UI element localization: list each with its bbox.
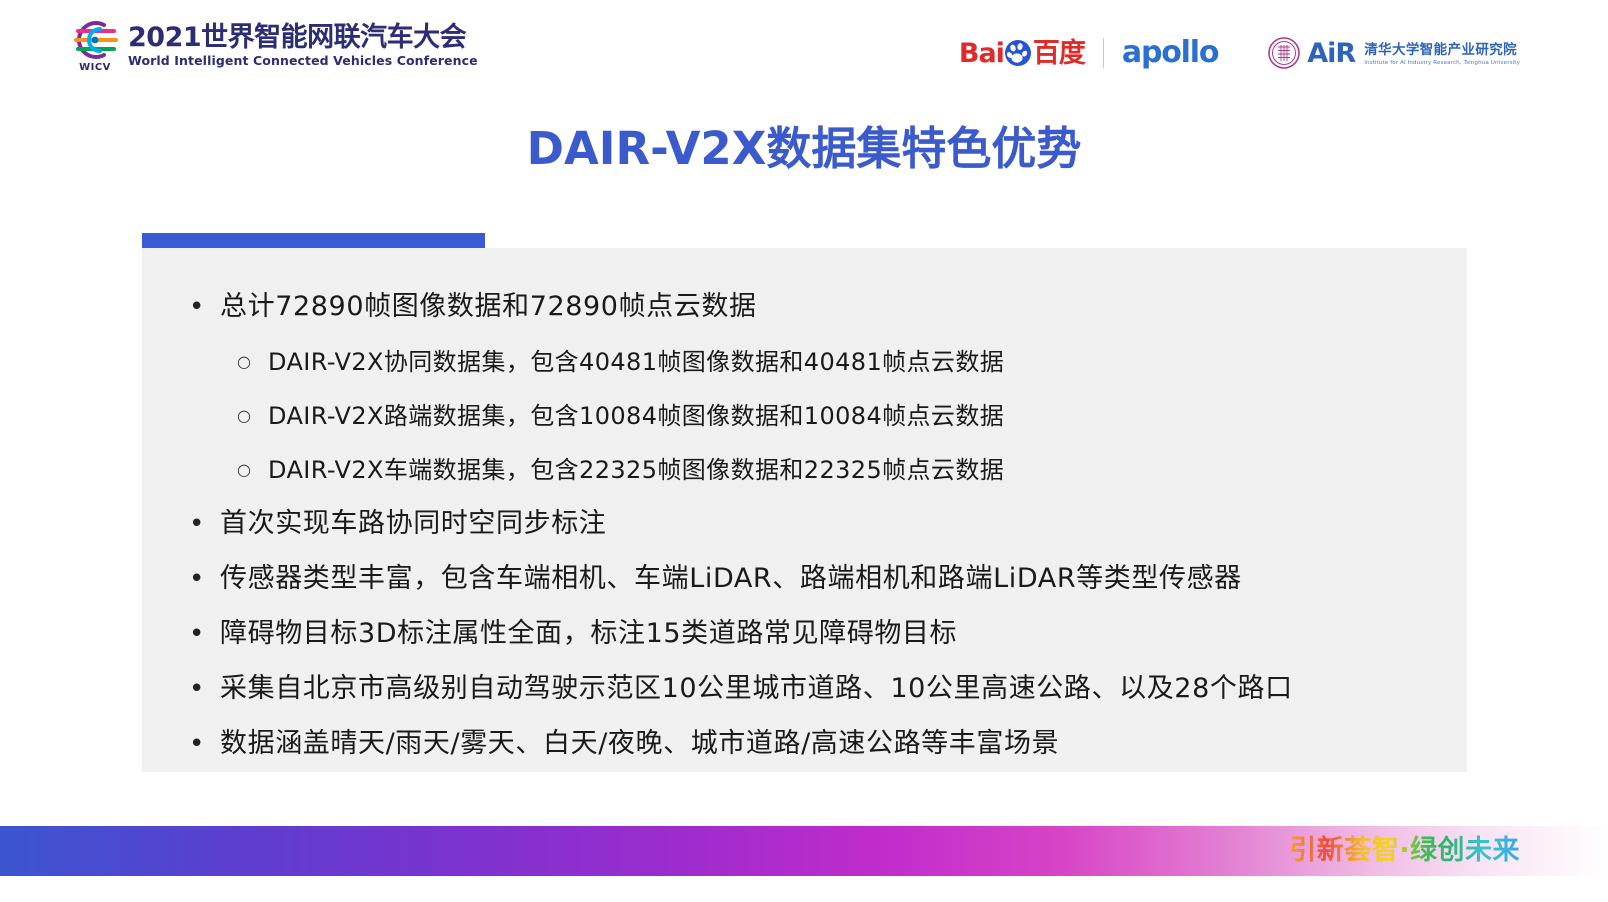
slide-header: WICV 2021世界智能网联汽车大会 World Intelligent Co… [0,0,1608,92]
bullet-text: DAIR-V2X车端数据集，包含22325帧图像数据和22325帧点云数据 [268,449,1004,491]
bullet-item: •传感器类型丰富，包含车端相机、车端LiDAR、路端相机和路端LiDAR等类型传… [142,558,1467,600]
air-name-block: 清华大学智能产业研究院 Institute for AI Industry Re… [1364,39,1520,67]
conference-title-block: 2021世界智能网联汽车大会 World Intelligent Connect… [128,24,478,68]
bullet-text: 总计72890帧图像数据和72890帧点云数据 [220,286,757,328]
bullet-dot-icon: • [186,613,220,655]
wicv-emblem-icon [70,18,120,62]
page-title: DAIR-V2X数据集特色优势 [0,112,1608,177]
bullet-item: ○DAIR-V2X路端数据集，包含10084帧图像数据和10084帧点云数据 [142,395,1467,437]
bullet-text: 采集自北京市高级别自动驾驶示范区10公里城市道路、10公里高速公路、以及28个路… [220,668,1293,710]
air-logo-word: AiR [1307,40,1355,67]
bullet-dot-icon: • [186,723,220,765]
bullet-item: •数据涵盖晴天/雨天/雾天、白天/夜晚、城市道路/高速公路等丰富场景 [142,723,1467,765]
bullet-text: DAIR-V2X协同数据集，包含40481帧图像数据和40481帧点云数据 [268,341,1004,383]
bullet-item: ○DAIR-V2X协同数据集，包含40481帧图像数据和40481帧点云数据 [142,341,1467,383]
apollo-logo: apollo [1122,38,1218,68]
conference-title-cn: 2021世界智能网联汽车大会 [128,24,478,52]
content-card: •总计72890帧图像数据和72890帧点云数据○DAIR-V2X协同数据集，包… [142,248,1467,772]
baidu-latin-text: Bai [959,40,1004,67]
air-name-cn: 清华大学智能产业研究院 [1364,42,1517,58]
bullet-list: •总计72890帧图像数据和72890帧点云数据○DAIR-V2X协同数据集，包… [142,248,1467,778]
baidu-cn-text: 百度 [1033,40,1085,67]
conference-title-en: World Intelligent Connected Vehicles Con… [128,53,478,68]
bullet-dot-icon: • [186,558,220,600]
bullet-dot-icon: • [186,503,220,545]
bullet-item: ○DAIR-V2X车端数据集，包含22325帧图像数据和22325帧点云数据 [142,449,1467,491]
bullet-circle-icon: ○ [234,395,268,437]
bullet-dot-icon: • [186,286,220,328]
air-seal-icon [1268,37,1300,69]
bullet-item: •障碍物目标3D标注属性全面，标注15类道路常见障碍物目标 [142,613,1467,655]
logo-divider [1103,38,1104,68]
bullet-text: 数据涵盖晴天/雨天/雾天、白天/夜晚、城市道路/高速公路等丰富场景 [220,723,1059,765]
bullet-text: 首次实现车路协同时空同步标注 [220,503,606,545]
wicv-logo-word: WICV [68,62,122,73]
bullet-item: •采集自北京市高级别自动驾驶示范区10公里城市道路、10公里高速公路、以及28个… [142,668,1467,710]
partner-logos: Bai 百度 apollo [959,30,1520,76]
bullet-text: DAIR-V2X路端数据集，包含10084帧图像数据和10084帧点云数据 [268,395,1004,437]
bullet-item: •总计72890帧图像数据和72890帧点云数据 [142,286,1467,328]
slide-root: WICV 2021世界智能网联汽车大会 World Intelligent Co… [0,0,1608,902]
bullet-item: •首次实现车路协同时空同步标注 [142,503,1467,545]
wicv-emblem-center [92,37,99,44]
bullet-text: 传感器类型丰富，包含车端相机、车端LiDAR、路端相机和路端LiDAR等类型传感… [220,558,1242,600]
footer-slogan: 引新荟智·绿创未来 [1289,832,1520,870]
bullet-dot-icon: • [186,668,220,710]
bullet-circle-icon: ○ [234,449,268,491]
air-name-en: Institute for AI Industry Research, Tsin… [1364,60,1520,67]
wicv-logo: WICV [68,18,124,78]
bullet-circle-icon: ○ [234,341,268,383]
air-logo: AiR 清华大学智能产业研究院 Institute for AI Industr… [1268,37,1520,69]
accent-bar-top [142,233,485,248]
bullet-text: 障碍物目标3D标注属性全面，标注15类道路常见障碍物目标 [220,613,957,655]
baidu-logo: Bai 百度 [959,35,1085,71]
baidu-paw-icon [1005,40,1031,66]
